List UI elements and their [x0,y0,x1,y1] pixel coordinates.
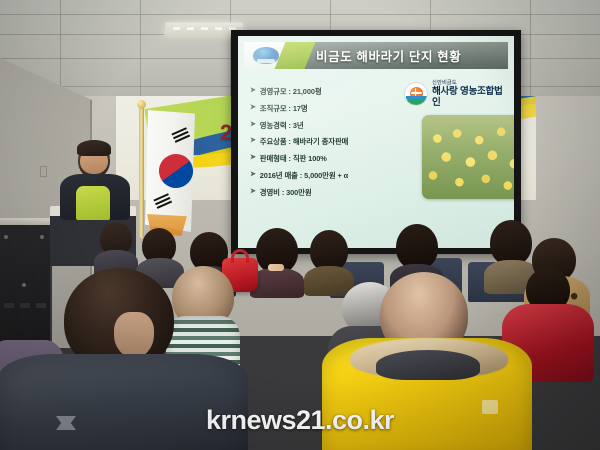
slide-body: ➤ 경영규모 : 21,000평 ➤ 조직규모 : 17명 ➤ 영농경력 : 3… [238,69,514,248]
watermark: krnews21.co.kr [0,405,600,436]
photograph-scene: 20 회 비금도 해바라기 단지 현황 [0,0,600,450]
bullet-arrow-icon: ➤ [250,154,256,163]
sun-and-sea-emblem-icon [404,82,428,106]
list-item: ➤ 영농경력 : 3년 [250,121,400,130]
bullet-arrow-icon: ➤ [250,171,256,180]
screen-corner-logo-icon [253,47,279,64]
audience-member [96,222,136,274]
slide-title: 비금도 해바라기 단지 현황 [316,46,461,65]
list-item: ➤ 주요상품 : 해바라기 종자판매 [250,137,400,146]
hair-clip [268,264,284,271]
korean-flag [139,110,201,238]
list-item: ➤ 경영규모 : 21,000평 [250,87,400,96]
list-item: ➤ 판매형태 : 직판 100% [250,154,400,163]
list-item: ➤ 조직규모 : 17명 [250,104,400,113]
bullet-arrow-icon: ➤ [250,137,256,146]
speaker [60,142,130,214]
bullet-arrow-icon: ➤ [250,104,256,113]
taeguk-symbol-icon [153,148,198,193]
cooperative-logo: 신안비금도 해사랑 영농조합법인 [404,81,506,108]
coop-main-label: 해사랑 영농조합법인 [432,87,506,107]
projection-screen: 비금도 해바라기 단지 현황 ➤ 경영규모 : 21,000평 ➤ 조직규모 :… [231,30,521,254]
list-item: ➤ 2016년 매출 : 5,000만원 + α [250,171,400,180]
list-item: ➤ 경영비 : 300만원 [250,188,400,197]
bullet-arrow-icon: ➤ [250,121,256,130]
wall-outlet [40,166,47,177]
bullet-arrow-icon: ➤ [250,188,256,197]
sunflower-field-photo [422,115,514,199]
bullet-arrow-icon: ➤ [250,87,256,96]
slide-title-bar: 비금도 해바라기 단지 현황 [244,42,508,69]
slide-bullet-list: ➤ 경영규모 : 21,000평 ➤ 조직규모 : 17명 ➤ 영농경력 : 3… [250,77,400,242]
